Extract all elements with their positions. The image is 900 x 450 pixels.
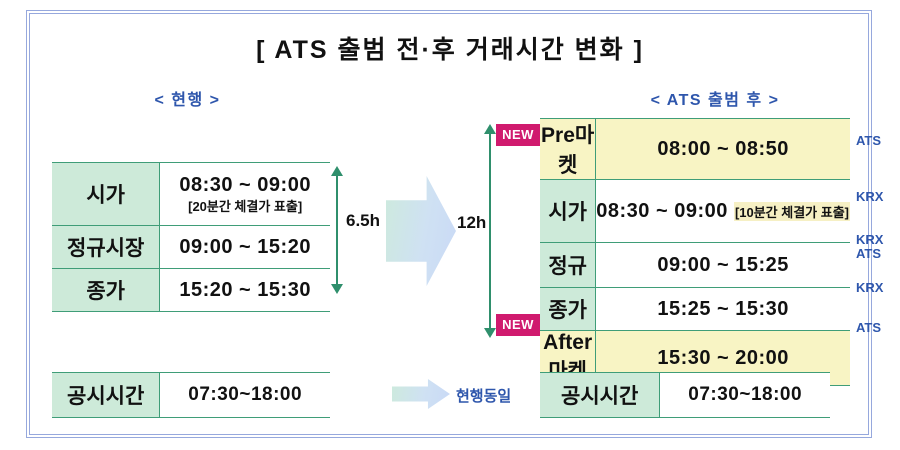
row-value: 08:30 ~ 09:00 [10분간 체결가 표출]	[596, 180, 850, 243]
row-label: 종가	[540, 288, 596, 331]
section-header-after: < ATS 출범 후 >	[565, 86, 865, 110]
page-title: [ ATS 출범 전·후 거래시간 변화 ]	[0, 30, 900, 66]
table-row: 공시시간 07:30~18:00	[52, 373, 330, 418]
row-label: 시가	[52, 163, 160, 226]
duration-label-current: 6.5h	[346, 211, 380, 231]
row-label: 정규	[540, 243, 596, 288]
arrow-down-icon	[331, 284, 343, 294]
venue-label-close: KRX	[856, 281, 883, 295]
row-label: Pre마켓	[540, 119, 596, 180]
disclosure-table-current: 공시시간 07:30~18:00	[52, 372, 330, 418]
row-label: 시가	[540, 180, 596, 243]
row-value: 09:00 ~ 15:20	[160, 226, 330, 269]
row-label: 정규시장	[52, 226, 160, 269]
row-value: 09:00 ~ 15:25	[596, 243, 850, 288]
row-label: 공시시간	[52, 373, 160, 418]
table-row: 종가 15:25 ~ 15:30	[540, 288, 850, 331]
venue-label-aftermarket: ATS	[856, 321, 881, 335]
duration-arrow-current	[329, 166, 345, 294]
duration-arrow-after	[482, 124, 498, 338]
table-row: 정규 09:00 ~ 15:25	[540, 243, 850, 288]
venue-label-siga: KRX	[856, 190, 883, 204]
table-row: 시가 08:30 ~ 09:00 [20분간 체결가 표출]	[52, 163, 330, 226]
arrow-line	[489, 132, 491, 330]
table-row: Pre마켓 08:00 ~ 08:50	[540, 119, 850, 180]
venue-label-regular-krx: KRX	[856, 233, 883, 247]
row-value: 15:25 ~ 15:30	[596, 288, 850, 331]
same-as-current-note: 현행동일	[456, 385, 511, 406]
section-header-current: < 현행 >	[95, 86, 280, 110]
row-value: 07:30~18:00	[660, 373, 830, 418]
table-row: 시가 08:30 ~ 09:00 [10분간 체결가 표출]	[540, 180, 850, 243]
row-note: [10분간 체결가 표출]	[734, 202, 850, 221]
venue-label-regular: KRX ATS	[856, 233, 883, 261]
current-schedule-table: 시가 08:30 ~ 09:00 [20분간 체결가 표출] 정규시장 09:0…	[52, 162, 330, 312]
row-value: 15:20 ~ 15:30	[160, 269, 330, 312]
row-note: [20분간 체결가 표출]	[160, 196, 330, 215]
arrow-line	[336, 174, 338, 286]
venue-label-regular-ats: ATS	[856, 247, 883, 261]
table-row: 정규시장 09:00 ~ 15:20	[52, 226, 330, 269]
row-time: 08:30 ~ 09:00	[596, 200, 728, 222]
row-value: 08:30 ~ 09:00 [20분간 체결가 표출]	[160, 163, 330, 226]
row-label: 공시시간	[540, 373, 660, 418]
disclosure-table-after: 공시시간 07:30~18:00	[540, 372, 830, 418]
table-row: 공시시간 07:30~18:00	[540, 373, 830, 418]
row-value: 07:30~18:00	[160, 373, 330, 418]
row-time: 08:30 ~ 09:00	[179, 174, 311, 196]
badge-new-aftermarket: NEW	[496, 314, 540, 336]
after-schedule-table: Pre마켓 08:00 ~ 08:50 시가 08:30 ~ 09:00 [10…	[540, 118, 850, 386]
venue-label-premarket: ATS	[856, 134, 881, 148]
badge-new-premarket: NEW	[496, 124, 540, 146]
row-label: 종가	[52, 269, 160, 312]
row-value: 08:00 ~ 08:50	[596, 119, 850, 180]
arrow-down-icon	[484, 328, 496, 338]
table-row: 종가 15:20 ~ 15:30	[52, 269, 330, 312]
